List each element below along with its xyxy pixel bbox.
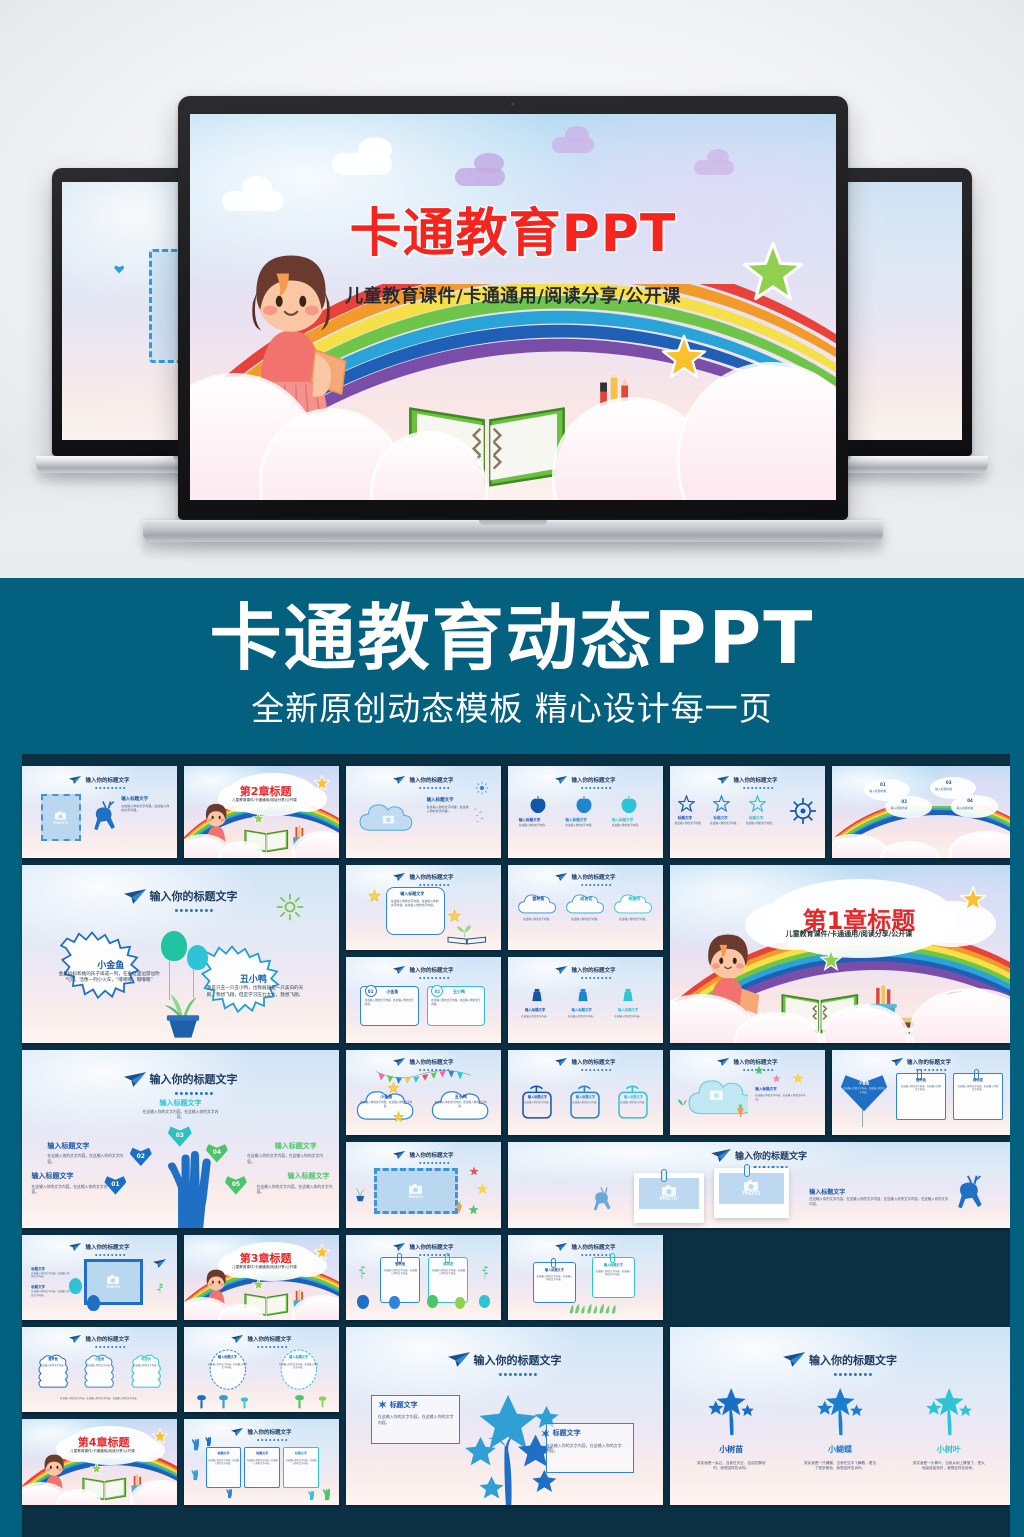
thumb-body: 在这输入你的文字内容。在这输入你的文字内容。 — [427, 805, 470, 814]
thumb-two-cards-grass[interactable]: 输入你的标题文字 输入标题文字 在这输入你的文字内容。在这输入你的文字内容。 输… — [508, 1235, 663, 1320]
sparkle-icon — [378, 1400, 387, 1409]
card-body: 在这输入你的文字内容。在这输入你的文字内容。 — [431, 1269, 465, 1276]
thumb-photo-balloon[interactable]: 输入你的标题文字 标题文字 在这输入你的文字内容。在这输入你的文字内容。 标题文… — [22, 1235, 177, 1320]
sun-doodle-icon — [273, 890, 307, 924]
card-label: 营养鱼 — [896, 1077, 946, 1082]
apple-icon — [576, 795, 592, 813]
thumb-header: 输入你的标题文字 — [571, 873, 615, 881]
apple-label: 输入标题文字 — [612, 818, 634, 823]
tree-body: 其实我是一朵云，当我在天空，自由的飘动时，我想这样告诉你。 — [694, 1461, 769, 1471]
thumb-body: 在这输入你的文字内容。在这输入你的文字内容。 — [755, 1094, 808, 1101]
thumb-header: 输入你的标题文字 — [409, 1058, 453, 1066]
apple-label: 输入标题文字 — [565, 818, 587, 823]
paper-plane-icon — [783, 1352, 805, 1367]
wheat-icon — [480, 1261, 490, 1281]
paper-plane-icon — [555, 1243, 567, 1251]
cloud-body: 在这输入你的文字内容。 — [129, 1364, 163, 1367]
sparkle-icon — [541, 1429, 550, 1438]
grass-icon — [567, 1300, 620, 1315]
cloud-label: 输入标题内容 — [957, 806, 974, 810]
thumb-header: 输入你的标题文字 — [150, 888, 238, 904]
potted-plant-icon — [155, 983, 211, 1039]
thumb-header: 输入你的标题文字 — [571, 966, 615, 974]
bell-body: 在这输入你的文字内容。 — [514, 1015, 556, 1019]
card-body: 在这输入你的文字内容。在这输入你的文字内容。 — [546, 1443, 622, 1455]
thumb-chapter-3[interactable]: 第3章标题 儿童教育课件/卡通通用/阅读分享/公开课 — [184, 1235, 339, 1320]
thumb-header: 输入你的标题文字 — [409, 1243, 453, 1251]
deer-icon — [588, 1182, 613, 1216]
paper-plane-icon — [891, 1058, 903, 1066]
apple-label: 输入标题文字 — [519, 818, 541, 823]
thumb-book-card[interactable]: 输入你的标题文字 输入标题文字 在这输入你的文字内容。在这输入你的文字内容。在这… — [346, 865, 501, 950]
paper-plane-icon — [393, 1058, 405, 1066]
card-label: 输入标题文字 — [592, 1262, 635, 1267]
cloud-photo-placeholder[interactable] — [358, 794, 420, 844]
thumb-header: 输入你的标题文字 — [907, 1058, 951, 1066]
thumb-three-clouds[interactable]: 输入你的标题文字 营养鱼 在这输入你的文字内容。 成功花 在这输入你的文字内容。… — [508, 865, 663, 950]
thumb-framed-photo[interactable]: 输入你的标题文字 PHOTO — [346, 1142, 501, 1228]
photo-card[interactable]: PHOTO — [714, 1168, 789, 1218]
item-label: 标题文字 — [31, 1266, 45, 1271]
thumb-header: 输入你的标题文字 — [409, 966, 453, 974]
card-body: 在这输入你的文字内容。在这输入你的文字内容。 — [378, 1414, 454, 1426]
balloon-blue — [87, 1295, 100, 1311]
camera-icon — [662, 1185, 676, 1196]
card-heading: 标题文字 — [378, 1400, 418, 1410]
star-tree-icon — [813, 1380, 867, 1441]
apple-icon — [427, 1295, 438, 1308]
thumb-hand-hearts[interactable]: 输入你的标题文字 02 03 04 01 05 输入标题文字 在这输入你的文字内… — [22, 1050, 339, 1228]
paper-plane-icon — [717, 1058, 729, 1066]
potted-plant-icon — [352, 1183, 368, 1203]
camera-icon — [409, 1184, 422, 1194]
handprint-icon — [189, 1438, 199, 1451]
photo-label: PHOTO — [106, 1284, 120, 1289]
thumb-chapter-4[interactable]: 第4章标题 儿童教育课件/卡通通用/阅读分享/公开课 — [22, 1419, 177, 1505]
balloon-string — [862, 1110, 863, 1127]
jar-body: 在这输入你的文字内容。 — [519, 1101, 556, 1104]
thumb-label: 输入标题文字 — [755, 1087, 777, 1092]
cloud-label: 希望树 — [126, 1356, 166, 1361]
paper-plane-icon — [393, 873, 405, 881]
camera-icon — [744, 1180, 758, 1191]
thumb-three-trees[interactable]: 输入你的标题文字 小树苗 其实我是一朵云，当我在天空，自由的飘动时，我想这样告诉… — [670, 1327, 1010, 1505]
thumb-four-clouds[interactable]: 输入你的标题文字 营养鱼 在这输入你的文字内容。 小金鱼 在这输入你的文字内容。… — [22, 1327, 177, 1412]
paper-plane-icon — [717, 776, 729, 784]
cloud-label: 营养鱼 — [33, 1356, 73, 1361]
jar-label: 输入标题文字 — [567, 1094, 604, 1099]
tree-label: 小树苗 — [694, 1444, 769, 1455]
card-label: 标题文字 — [553, 1428, 581, 1438]
card-body: 在这输入你的文字内容。在这输入你的文字内容。在这输入你的文字内容。 — [391, 899, 441, 907]
paper-plane-icon — [124, 1072, 146, 1087]
jar-icon — [530, 987, 544, 1003]
carrot-icon — [735, 1103, 746, 1119]
laptop-reflection — [143, 520, 883, 562]
thumb-header: 输入你的标题文字 — [85, 776, 129, 784]
paper-plane-icon — [555, 966, 567, 974]
thumb-header: 输入你的标题文字 — [409, 1151, 453, 1159]
jar-body: 在这输入你的文字内容。 — [615, 1101, 652, 1104]
thumb-two-cards-wheat[interactable]: 输入你的标题文字 营养鱼 在这输入你的文字内容。在这输入你的文字内容。 成功花 … — [346, 1235, 501, 1320]
photo-label: PHOTO — [660, 1196, 678, 1202]
tree-label: 小蝴蝶 — [803, 1444, 878, 1455]
card-label: 成功花 — [428, 1261, 468, 1266]
chapter-subtitle: 儿童教育课件/卡通通用/阅读分享/公开课 — [232, 798, 297, 803]
yellow-star-icon — [476, 1182, 489, 1195]
yellow-star-icon — [661, 334, 707, 380]
deer-icon — [950, 1171, 985, 1214]
cloud-label: 希望树 — [613, 896, 655, 902]
bell-body: 在这输入你的文字内容。 — [607, 1015, 649, 1019]
jar-icon — [576, 987, 590, 1003]
yellow-star-icon — [960, 886, 986, 912]
thumb-header: 输入你的标题文字 — [247, 1335, 291, 1343]
photo-label: PHOTO — [54, 820, 68, 825]
mushroom-icon — [196, 1395, 207, 1410]
slide-grid: 输入你的标题文字 PHOTO 输入标题文字 在这输入你的文字内容。在这输入你的文… — [22, 766, 1010, 1526]
thumb-jars[interactable]: 输入你的标题文字 输入标题文字 在这输入你的文字内容。 输入标题文字 在这输入你… — [508, 1050, 663, 1135]
webcam-icon — [511, 102, 515, 106]
mushroom-icon — [318, 1396, 327, 1409]
card-label: 标题文字 — [390, 1400, 418, 1410]
chapter-subtitle: 儿童教育课件/卡通通用/阅读分享/公开课 — [70, 1449, 135, 1454]
thumb-label: 输入标题文字 — [121, 796, 148, 802]
yellow-star-icon — [152, 1428, 168, 1444]
green-star-icon — [754, 1065, 764, 1075]
card-body: 在这输入你的文字内容。在这输入你的文字内容。 — [957, 1085, 1000, 1092]
starfish-icon — [713, 795, 730, 812]
card-body: 在这输入你的文字内容。在这输入你的文字内容。 — [207, 1459, 240, 1465]
jar-label: 输入标题文字 — [519, 1094, 556, 1099]
thumb-header: 输入你的标题文字 — [409, 873, 453, 881]
jar-icon — [621, 987, 635, 1003]
book-sprout-icon — [442, 916, 492, 945]
thumb-header: 输入你的标题文字 — [571, 1243, 615, 1251]
cloud-body: 在这输入你的文字内容。 — [516, 918, 559, 922]
thumb-cloud-numbers[interactable]: 01 输入标题内容 02 输入标题内容 03 输入标题内容 04 输入标题内容 — [832, 766, 1010, 858]
card-label: 标题文字 — [283, 1451, 319, 1455]
camera-icon — [107, 1275, 119, 1284]
thumb-footer: 在这输入你的文字内容。在这输入你的文字内容。在这输入你的文字内容。 — [38, 1397, 162, 1400]
star-body: 在这输入你的文字内容。 — [675, 822, 706, 826]
wheat-icon — [357, 1261, 367, 1281]
thumb-three-bell[interactable]: 输入你的标题文字 输入标题文字 在这输入你的文字内容。 输入标题文字 在这输入你… — [508, 957, 663, 1043]
card-body: 在这输入你的文字内容。在这输入你的文字内容。 — [383, 1269, 417, 1276]
card-body: 在这输入你的文字内容。在这输入你的文字内容。 — [246, 1459, 279, 1465]
thumb-stars-wheel[interactable]: 输入你的标题文字 标题文字 在这输入你的文字内容。 标题文字 在这输入你的文字内… — [670, 766, 825, 858]
item-label: 标题文字 — [31, 1284, 45, 1289]
paper-plane-icon — [153, 1259, 166, 1268]
paper-plane-icon — [69, 1243, 81, 1251]
promo-banner: 卡通教育动态PPT 全新原创动态模板 精心设计每一页 — [0, 578, 1024, 754]
handprint-icon — [306, 1490, 314, 1501]
apple-icon — [530, 795, 546, 813]
item-body: 在这输入你的文字内容。在这输入你的文字内容。 — [257, 1184, 333, 1195]
cloud-number: 04 — [967, 798, 973, 803]
bottom-clouds — [190, 400, 836, 500]
thumb-header: 输入你的标题文字 — [571, 776, 615, 784]
item-label: 输入标题文字 — [47, 1141, 89, 1151]
bubble-label-left: 小金鱼 — [66, 958, 155, 971]
card-body: 在这输入你的文字内容。在这输入你的文字内容。 — [285, 1459, 318, 1465]
slide-title-block: 卡通教育PPT 儿童教育课件/卡通通用/阅读分享/公开课 — [190, 191, 836, 308]
handprint-icon — [320, 1488, 330, 1501]
bubble-body: 在这输入你的文字内容。在这输入你的文字内容。 — [365, 999, 415, 1007]
bell-label: 输入标题文字 — [516, 1007, 555, 1012]
yellow-star-icon — [368, 889, 381, 902]
yellow-star-icon — [314, 1244, 330, 1260]
apple-icon — [621, 795, 637, 813]
balloon-cyan — [187, 945, 208, 970]
mushroom-icon — [218, 1395, 229, 1410]
laptop-center: world's best teacher 卡通教育PPT 儿童 — [178, 96, 848, 520]
starfish-icon — [749, 795, 766, 812]
bubble-label: 小金鱼 — [386, 989, 398, 995]
cloud-shape — [565, 891, 607, 917]
balloon-label: 小金鱼 — [841, 1081, 887, 1086]
photo-card[interactable]: PHOTO — [634, 1173, 704, 1223]
green-star-icon — [820, 949, 842, 971]
card-body: 在这输入你的文字内容。在这输入你的文字内容。 — [900, 1085, 943, 1092]
star-tree-icon — [704, 1380, 758, 1441]
thumb-bunting[interactable]: 输入你的标题文字 小金鱼 在这输入你的文字内容。在这输入你的文字内容。 丑小鸭 … — [346, 1050, 501, 1135]
title-slide-screen: world's best teacher 卡通教育PPT 儿童 — [190, 114, 836, 500]
tree-label: 小树叶 — [911, 1444, 986, 1455]
balloon-cyan — [69, 1278, 82, 1294]
thumb-balloon-heart[interactable]: 输入你的标题文字 小金鱼 在这输入你的文字内容。在这输入你的文字内容。 营养鱼 … — [832, 1050, 1010, 1135]
birds-icon — [470, 803, 492, 831]
thumb-cloud-photo-star[interactable]: 输入你的标题文字 输入标题文字 在这输入你的文字内容。在这输入你的文字内容。 — [670, 1050, 825, 1135]
cloud-label: 小金鱼 — [79, 1356, 119, 1361]
deer-icon — [87, 795, 118, 837]
apple-icon — [357, 1295, 369, 1309]
paper-plane-icon — [393, 776, 405, 784]
banner-title: 卡通教育动态PPT — [210, 602, 815, 675]
cloud-shape — [517, 891, 559, 917]
thumb-header: 输入你的标题文字 — [733, 776, 777, 784]
hero-laptop-mockup: world's best teacher 卡通教育PPT 儿童 — [0, 0, 1024, 578]
thumb-handprints[interactable]: 输入你的标题文字 标题文字 在这输入你的文字内容。在这输入你的文字内容。 标题文… — [184, 1419, 339, 1505]
card-label: 输入标题文字 — [533, 1267, 576, 1272]
chapter-subtitle: 儿童教育课件/卡通通用/阅读分享/公开课 — [232, 1265, 297, 1270]
photo-label: PHOTO — [409, 1194, 423, 1199]
photo-placeholder[interactable]: PHOTO — [41, 794, 81, 842]
apple-body: 在这输入你的文字内容。 — [565, 824, 599, 828]
cloud-label: 输入标题内容 — [869, 789, 886, 793]
thumb-label: 输入标题文字 — [809, 1187, 845, 1196]
cloud-number: 01 — [880, 782, 886, 787]
thumb-body: 在这输入你的文字内容。在这输入你的文字内容。在这输入你的文字内容。在这输入你的文… — [809, 1197, 950, 1207]
starfish-icon — [678, 795, 695, 812]
cloud-label: 营养鱼 — [517, 896, 559, 902]
paper-plane-icon — [124, 889, 146, 904]
star-label: 标题文字 — [749, 816, 763, 821]
item-body: 在这输入你的文字内容。在这输入你的文字内容。 — [32, 1184, 108, 1195]
cloud-label: 输入标题内容 — [935, 787, 952, 791]
chapter-subtitle: 儿童教育课件/卡通通用/阅读分享/公开课 — [786, 929, 913, 939]
item-body: 在这输入你的文字内容。在这输入你的文字内容。 — [142, 1109, 218, 1120]
star-tree-icon — [922, 1380, 976, 1441]
paperclip-icon — [661, 1169, 667, 1182]
mushroom-icon — [294, 1395, 305, 1410]
card-heading: 标题文字 — [541, 1428, 581, 1438]
balloon-green — [161, 931, 187, 961]
thumb-header: 输入你的标题文字 — [247, 1428, 291, 1436]
card-label: 营养鱼 — [380, 1261, 420, 1266]
thumb-apples[interactable]: 输入你的标题文字 输入标题文字 在这输入你的文字内容。 输入标题文字 在这输入你… — [508, 766, 663, 858]
card-label: 标题文字 — [206, 1451, 242, 1455]
bubble-label: 丑小鸭 — [430, 1094, 492, 1100]
thumb-label: 输入标题文字 — [427, 797, 454, 803]
card-body: 在这输入你的文字内容。在这输入你的文字内容。 — [536, 1275, 573, 1282]
wheat-icon — [155, 1279, 165, 1294]
paperclip-icon — [744, 1164, 750, 1177]
jar-label: 输入标题文字 — [615, 1094, 652, 1099]
item-body: 在这输入你的文字内容。在这输入你的文字内容。 — [31, 1272, 71, 1279]
mushroom-icon — [240, 1397, 249, 1410]
main-slide-title: 卡通教育PPT — [190, 191, 836, 266]
item-body: 在这输入你的文字内容。在这输入你的文字内容。 — [47, 1153, 123, 1164]
paper-plane-icon — [393, 966, 405, 974]
balloon-body: 在这输入你的文字内容。在这输入你的文字内容。 — [843, 1087, 886, 1094]
cloud-body: 在这输入你的文字内容。 — [564, 918, 607, 922]
cloud-number: 03 — [946, 780, 952, 785]
yellow-star-icon — [388, 1082, 399, 1093]
green-star-icon — [468, 1204, 479, 1215]
bell-label: 输入标题文字 — [609, 1007, 648, 1012]
thumb-two-bubbles[interactable]: 输入你的标题文字 01 小金鱼 在这输入你的文字内容。在这输入你的文字内容。 0… — [346, 957, 501, 1043]
paper-plane-icon — [231, 1335, 243, 1343]
thumb-chapter-2[interactable]: 第2章标题 儿童教育课件/卡通通用/阅读分享/公开课 — [184, 766, 339, 858]
bubble-body: 在这输入你的文字内容。在这输入你的文字内容。 — [433, 1101, 489, 1109]
item-body: 在这输入你的文字内容。在这输入你的文字内容。 — [31, 1290, 71, 1297]
carrot-icon — [454, 1200, 464, 1215]
apple-body: 在这输入你的文字内容。 — [519, 824, 553, 828]
yellow-star-icon — [314, 775, 330, 791]
thumb-header: 输入你的标题文字 — [474, 1352, 562, 1368]
tree-body: 其实我是一只蝴蝶，当我在空中飞舞着，看见了很多景色，我想这样告诉你。 — [803, 1461, 878, 1471]
bubble-label: 输入标题文字 — [274, 1354, 324, 1359]
apple-icon — [455, 1297, 465, 1309]
thumb-star-tree[interactable]: 输入你的标题文字 标题文字 在这输入你的文字内容。在这输入你的文字内容。 — [346, 1327, 663, 1505]
pink-star-icon — [772, 1074, 781, 1083]
photo-label: PHOTO — [743, 1191, 761, 1197]
thumb-photo-deer[interactable]: 输入你的标题文字 PHOTO 输入标题文字 在这输入你的文字内容。在这输入你的文… — [22, 766, 177, 858]
cloud-body: 在这输入你的文字内容。 — [82, 1364, 116, 1367]
star-label: 标题文字 — [713, 816, 727, 821]
thumb-body: 在这输入你的文字内容。在这输入你的文字内容。 — [121, 804, 171, 813]
card-label: 成功花 — [953, 1077, 1003, 1082]
paper-plane-icon — [393, 1243, 405, 1251]
jar-body: 在这输入你的文字内容。 — [567, 1101, 604, 1104]
bubble-label: 丑小鸭 — [453, 989, 465, 995]
thumb-speech-plant[interactable]: 输入你的标题文字 小金鱼 金鱼妈妈和她的孩子排成一列，在鱼缸里边游边吹气泡，活像… — [22, 865, 339, 1043]
apple-icon — [479, 1295, 490, 1308]
bubble-number: 01 — [365, 985, 377, 997]
thumb-cloud-photo[interactable]: 输入你的标题文字 输入标题文字 在这输入你的文字内容。在这输入你的文字内容。 — [346, 766, 501, 858]
photo-placeholder[interactable]: PHOTO — [374, 1168, 458, 1214]
yellow-star-icon — [792, 1072, 804, 1084]
paper-plane-icon — [555, 1058, 567, 1066]
bubble-label-right: 丑小鸭 — [209, 972, 298, 985]
paper-plane-icon — [711, 1149, 731, 1162]
poster-page: world's best teacher 卡通教育PPT 儿童 — [0, 0, 1024, 1537]
bubble-body: 在这输入你的文字内容。在这输入你的文字内容。 — [279, 1363, 319, 1370]
thumb-header: 输入你的标题文字 — [571, 1058, 615, 1066]
handprint-icon — [189, 1469, 198, 1481]
sun-icon — [475, 781, 489, 795]
card-body: 在这输入你的文字内容。在这输入你的文字内容。 — [595, 1270, 632, 1277]
bubble-body-right: 我是只丑一只丑小鸭，也我展翅是一只美白的天鹅，我想飞翔，但是学习压力太大，我想飞… — [203, 986, 308, 999]
camera-icon — [55, 811, 66, 820]
handprint-icon — [203, 1436, 211, 1447]
paper-plane-icon — [448, 1352, 470, 1367]
cloud-body: 在这输入你的文字内容。 — [36, 1364, 70, 1367]
handprint-icon — [224, 1488, 232, 1499]
item-body: 在这输入你的文字内容。在这输入你的文字内容。 — [247, 1153, 323, 1164]
bell-label: 输入标题文字 — [562, 1007, 601, 1012]
cloud-number: 02 — [901, 799, 907, 804]
item-label: 输入标题文字 — [275, 1141, 317, 1151]
bubble-body: 在这输入你的文字内容。在这输入你的文字内容。 — [431, 999, 481, 1007]
bubble-body: 在这输入你的文字内容。在这输入你的文字内容。 — [358, 1101, 414, 1109]
tree-body: 其实我是一片黄叶，当我从树上飘落了，把大地染成金色时，我想这样告诉你。 — [911, 1461, 986, 1471]
item-label: 输入标题文字 — [32, 1171, 74, 1181]
cloud-shape — [613, 891, 655, 917]
laptop-center-bezel: world's best teacher 卡通教育PPT 儿童 — [178, 96, 848, 520]
thumb-header: 输入你的标题文字 — [809, 1352, 897, 1368]
bunting-icon — [352, 1069, 495, 1088]
apple-body: 在这输入你的文字内容。 — [612, 824, 646, 828]
star-label: 标题文字 — [678, 816, 692, 821]
bell-body: 在这输入你的文字内容。 — [561, 1015, 603, 1019]
paper-plane-icon — [69, 776, 81, 784]
banner-subtitle: 全新原创动态模板 精心设计每一页 — [251, 682, 773, 730]
leaf-icon — [676, 1094, 690, 1108]
paper-plane-icon — [555, 873, 567, 881]
bubble-body: 在这输入你的文字内容。在这输入你的文字内容。 — [207, 1363, 247, 1370]
item-label: 输入标题文字 — [139, 1098, 221, 1108]
slide-thumbnail-section: 输入你的标题文字 PHOTO 输入标题文字 在这输入你的文字内容。在这输入你的文… — [0, 754, 1024, 1537]
thumb-mushroom-bubbles[interactable]: 输入你的标题文字 输入标题文字 在这输入你的文字内容。在这输入你的文字内容。 输… — [184, 1327, 339, 1412]
paper-plane-icon — [393, 1151, 405, 1159]
thumb-photo-clip-deer[interactable]: 输入你的标题文字 PHOTO PHOTO 输入标题文字 — [508, 1142, 1010, 1228]
bubble-label: 输入标题文字 — [203, 1354, 253, 1359]
yellow-star-icon — [393, 1111, 404, 1122]
thumb-header: 输入你的标题文字 — [85, 1243, 129, 1251]
ship-wheel-icon — [789, 797, 817, 825]
thumb-header: 输入你的标题文字 — [85, 1335, 129, 1343]
paper-plane-icon — [69, 1335, 81, 1343]
thumb-chapter-1[interactable]: 第1章标题 儿童教育课件/卡通通用/阅读分享/公开课 — [670, 865, 1010, 1043]
bubble-label: 小金鱼 — [355, 1094, 417, 1100]
cloud-label: 输入标题内容 — [891, 806, 908, 810]
thumb-header: 输入你的标题文字 — [409, 776, 453, 784]
paper-plane-icon — [555, 776, 567, 784]
star-body: 在这输入你的文字内容。 — [710, 822, 741, 826]
main-slide-subtitle: 儿童教育课件/卡通通用/阅读分享/公开课 — [190, 282, 836, 308]
bubble-body-left: 金鱼妈妈和她的孩子排成一列，在鱼缸里边游边吹气泡，活像一列小火车，“嘟嘟嘟，嘟嘟… — [57, 972, 162, 985]
item-label: 输入标题文字 — [288, 1171, 330, 1181]
star-body: 在这输入你的文字内容。 — [746, 822, 777, 826]
thumb-header: 输入你的标题文字 — [150, 1071, 238, 1087]
cloud-label: 成功花 — [565, 896, 607, 902]
cloud-body: 在这输入你的文字内容。 — [612, 918, 655, 922]
chapter-title: 第2章标题 — [240, 783, 292, 799]
red-star-icon — [469, 1166, 479, 1176]
card-label: 输入标题文字 — [400, 891, 424, 897]
